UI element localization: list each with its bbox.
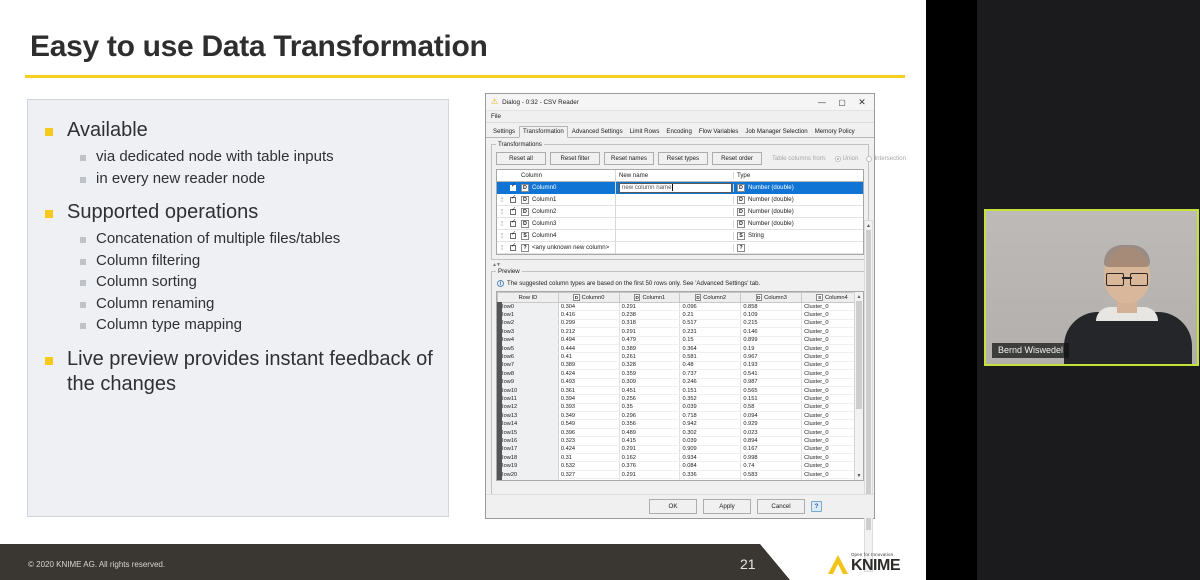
- row-id-cell: Row15: [498, 428, 559, 436]
- table-row[interactable]: Row10.4160.2380.210.109Cluster_0: [498, 311, 863, 319]
- tab-encoding[interactable]: Encoding: [663, 127, 694, 137]
- column-name: Column2: [532, 208, 556, 215]
- knime-logo: Open for Innovation KNIME: [828, 553, 900, 574]
- data-cell: 0.146: [741, 328, 802, 336]
- dialog-tab-strip[interactable]: SettingsTransformationAdvanced SettingsL…: [486, 123, 874, 138]
- table-row[interactable]: Row160.3230.4150.0390.894Cluster_0: [498, 437, 863, 445]
- data-cell: 0.359: [619, 370, 680, 378]
- cell-column: DColumn2: [519, 208, 615, 216]
- data-cell: 0.212: [558, 328, 619, 336]
- data-cell: 0.737: [680, 370, 741, 378]
- include-checkbox[interactable]: [507, 221, 519, 227]
- data-cell: 0.327: [558, 470, 619, 478]
- bullet-secondary: Column sorting: [80, 272, 434, 292]
- cell-type[interactable]: SString: [733, 232, 863, 240]
- bullet-text: Available: [67, 118, 148, 143]
- row-id-cell: Row21: [498, 479, 559, 481]
- dialog-title: Dialog - 0:32 - CSV Reader: [502, 99, 812, 106]
- type-chip-icon: S: [816, 294, 823, 301]
- cell-type[interactable]: DNumber (double): [733, 220, 863, 228]
- preview-col-header-label: Row ID: [519, 295, 538, 301]
- dialog-vertical-scrollbar[interactable]: ▲: [864, 220, 873, 572]
- cell-type[interactable]: DNumber (double): [733, 184, 863, 192]
- cell-new-name[interactable]: new column name: [615, 182, 733, 194]
- data-cell: 0.323: [558, 437, 619, 445]
- data-cell: 0.151: [680, 386, 741, 394]
- bullet-text: Live preview provides instant feedback o…: [67, 347, 434, 397]
- knime-wordmark: Open for Innovation KNIME: [851, 553, 900, 574]
- data-cell: 0.094: [741, 412, 802, 420]
- type-chip-icon: S: [521, 232, 529, 240]
- table-row[interactable]: Row20.2990.3180.5170.215Cluster_0: [498, 319, 863, 327]
- bullet-content-panel: Availablevia dedicated node with table i…: [27, 99, 449, 517]
- data-cell: 0.942: [680, 420, 741, 428]
- data-cell: 0.291: [619, 470, 680, 478]
- apply-button[interactable]: Apply: [703, 499, 751, 514]
- data-cell: 0.389: [558, 361, 619, 369]
- data-cell: 0.304: [558, 303, 619, 311]
- preview-col-header[interactable]: DColumn1: [619, 293, 680, 303]
- table-row[interactable]: ⣿?<any unknown new column>?: [497, 242, 863, 254]
- page-number: 21: [740, 556, 756, 572]
- bullet-spacer: [42, 190, 434, 200]
- type-label: Number (double): [748, 184, 794, 191]
- data-cell: 0.393: [558, 403, 619, 411]
- letterbox-rail: [926, 0, 977, 580]
- data-cell: 0.318: [619, 319, 680, 327]
- include-checkbox[interactable]: [507, 197, 519, 203]
- preview-col-header[interactable]: DColumn3: [741, 293, 802, 303]
- data-cell: 0.934: [680, 454, 741, 462]
- checkbox-icon: [510, 185, 516, 191]
- data-cell: 0.109: [741, 311, 802, 319]
- cell-new-name[interactable]: [615, 194, 733, 206]
- data-cell: 0.489: [619, 428, 680, 436]
- bullet-marker-icon: [80, 155, 86, 161]
- row-id-cell: Row12: [498, 403, 559, 411]
- checkbox-icon: [510, 221, 516, 227]
- transformation-rows: DColumn0new column nameDNumber (double)⣿…: [497, 182, 863, 254]
- data-cell: 0.296: [619, 412, 680, 420]
- text-caret: [672, 184, 673, 191]
- bullet-marker-icon: [45, 210, 53, 218]
- data-cell: 0.415: [619, 437, 680, 445]
- warning-triangle-icon: ⚠: [491, 98, 498, 106]
- data-cell: 0.517: [680, 319, 741, 327]
- new-name-input[interactable]: new column name: [619, 183, 732, 193]
- tab-advanced-settings[interactable]: Advanced Settings: [569, 127, 626, 137]
- type-chip-icon: D: [737, 208, 745, 216]
- header-column: Column: [519, 172, 615, 179]
- data-cell: 0.193: [741, 361, 802, 369]
- bullet-secondary: Column type mapping: [80, 315, 434, 335]
- type-chip-icon: D: [521, 196, 529, 204]
- tab-flow-variables[interactable]: Flow Variables: [696, 127, 742, 137]
- data-cell: 0.424: [558, 445, 619, 453]
- table-row[interactable]: Row80.4240.3590.7370.541Cluster_0: [498, 370, 863, 378]
- bullet-text: Supported operations: [67, 200, 258, 225]
- row-id-cell: Row14: [498, 420, 559, 428]
- data-cell: 0.299: [558, 319, 619, 327]
- preview-col-header[interactable]: Row ID: [498, 293, 559, 303]
- row-id-cell: Row2: [498, 319, 559, 327]
- column-name: Column1: [532, 196, 556, 203]
- table-row[interactable]: Row90.4930.3090.2460.987Cluster_0: [498, 378, 863, 386]
- preview-row-gutter: [497, 302, 502, 480]
- type-chip-icon: D: [737, 196, 745, 204]
- preview-col-header-label: Column4: [825, 295, 848, 301]
- data-cell: 0.532: [558, 462, 619, 470]
- bullet-marker-icon: [45, 357, 53, 365]
- button-reset-types[interactable]: Reset types: [658, 152, 708, 165]
- data-cell: 0.338: [619, 479, 680, 481]
- preview-vertical-scrollbar[interactable]: ▲ ▼: [854, 292, 863, 480]
- data-cell: 0.58: [741, 403, 802, 411]
- minimize-button[interactable]: —: [812, 94, 832, 110]
- data-cell: 0.361: [558, 386, 619, 394]
- cell-new-name[interactable]: [615, 230, 733, 242]
- checkbox-icon: [510, 233, 516, 239]
- data-cell: 0.967: [741, 353, 802, 361]
- bullet-marker-icon: [45, 128, 53, 136]
- button-reset-filter[interactable]: Reset filter: [550, 152, 600, 165]
- table-row[interactable]: Row130.3490.2960.7180.094Cluster_0: [498, 412, 863, 420]
- help-icon[interactable]: ?: [811, 501, 822, 512]
- bullet-text: Column renaming: [96, 294, 214, 314]
- data-cell: 0.541: [741, 370, 802, 378]
- bullet-primary: Available: [42, 118, 434, 143]
- data-cell: 0.909: [680, 445, 741, 453]
- cell-type[interactable]: ?: [733, 244, 863, 252]
- bullet-marker-icon: [80, 237, 86, 243]
- cell-type[interactable]: DNumber (double): [733, 208, 863, 216]
- data-cell: 0.451: [619, 386, 680, 394]
- checkbox-icon: [510, 197, 516, 203]
- radio-dot-icon: [835, 156, 841, 162]
- bullet-primary: Supported operations: [42, 200, 434, 225]
- button-reset-names[interactable]: Reset names: [604, 152, 654, 165]
- avatar-hair: [1104, 245, 1150, 267]
- row-id-cell: Row11: [498, 395, 559, 403]
- data-cell: 0.162: [619, 454, 680, 462]
- cell-column: ?<any unknown new column>: [519, 244, 615, 252]
- bullet-marker-icon: [80, 302, 86, 308]
- data-cell: 0.231: [680, 328, 741, 336]
- bullet-marker-icon: [80, 323, 86, 329]
- column-name: Column4: [532, 232, 556, 239]
- cell-new-name[interactable]: [615, 242, 733, 254]
- type-chip-icon: D: [634, 294, 641, 301]
- cell-column: DColumn3: [519, 220, 615, 228]
- participant-video-tile[interactable]: Bernd Wiswedel: [984, 209, 1199, 366]
- bullet-text: via dedicated node with table inputs: [96, 147, 334, 167]
- cell-column: DColumn0: [519, 184, 615, 192]
- data-cell: 0.084: [680, 462, 741, 470]
- table-row[interactable]: Row120.3930.350.0390.58Cluster_0: [498, 403, 863, 411]
- data-cell: 0.167: [741, 445, 802, 453]
- preview-col-header-label: Column2: [703, 295, 726, 301]
- data-cell: 0.302: [680, 428, 741, 436]
- preview-note-text: The suggested column types are based on …: [507, 280, 760, 287]
- data-cell: 0.238: [619, 311, 680, 319]
- data-cell: 0.899: [741, 336, 802, 344]
- table-row[interactable]: ⣿SColumn4SString: [497, 230, 863, 242]
- preview-info-note: i The suggested column types are based o…: [496, 279, 864, 291]
- dialog-title-bar[interactable]: ⚠ Dialog - 0:32 - CSV Reader — ▢ ✕: [486, 94, 874, 111]
- data-cell: 0.583: [741, 470, 802, 478]
- close-icon[interactable]: ✕: [852, 94, 872, 110]
- preview-legend: Preview: [496, 268, 522, 275]
- column-name: <any unknown new column>: [532, 244, 609, 251]
- type-chip-icon: D: [695, 294, 702, 301]
- transformations-legend: Transformations: [496, 141, 544, 148]
- data-cell: 0.256: [619, 395, 680, 403]
- preview-col-header-label: Column1: [642, 295, 665, 301]
- table-row[interactable]: Row150.3960.4890.3020.023Cluster_0: [498, 428, 863, 436]
- preview-col-header[interactable]: DColumn0: [558, 293, 619, 303]
- cell-new-name[interactable]: [615, 218, 733, 230]
- data-cell: 0.396: [558, 428, 619, 436]
- include-checkbox[interactable]: [507, 233, 519, 239]
- data-cell: 0.039: [680, 437, 741, 445]
- preview-table: Row IDDColumn0DColumn1DColumn2DColumn3SC…: [497, 292, 863, 481]
- data-cell: 0.19: [741, 344, 802, 352]
- tab-transformation[interactable]: Transformation: [519, 126, 568, 138]
- preview-col-header-label: Column3: [764, 295, 787, 301]
- table-row[interactable]: Row190.5320.3760.0840.74Cluster_0: [498, 462, 863, 470]
- type-chip-icon: S: [737, 232, 745, 240]
- data-cell: 0.291: [619, 445, 680, 453]
- logo-name: KNIME: [851, 558, 900, 574]
- data-cell: 0.858: [741, 303, 802, 311]
- row-id-cell: Row6: [498, 353, 559, 361]
- data-cell: 0.21: [680, 311, 741, 319]
- data-cell: 0.31: [558, 454, 619, 462]
- row-id-cell: Row10: [498, 386, 559, 394]
- data-cell: 0.416: [558, 311, 619, 319]
- data-cell: 0.894: [741, 437, 802, 445]
- table-row[interactable]: Row110.3940.2560.3520.151Cluster_0: [498, 395, 863, 403]
- row-id-cell: Row17: [498, 445, 559, 453]
- cell-column: SColumn4: [519, 232, 615, 240]
- scroll-up-icon[interactable]: ▲: [855, 292, 863, 301]
- checkbox-icon: [510, 209, 516, 215]
- column-name: Column0: [532, 184, 556, 191]
- table-row[interactable]: ⣿DColumn3DNumber (double): [497, 218, 863, 230]
- type-chip-icon: D: [521, 208, 529, 216]
- outer-scroll-up-icon[interactable]: ▲: [865, 221, 872, 230]
- bullet-text: Column sorting: [96, 272, 197, 292]
- table-row[interactable]: Row100.3610.4510.1510.565Cluster_0: [498, 386, 863, 394]
- data-cell: 0.261: [619, 353, 680, 361]
- header-new-name: New name: [615, 170, 733, 182]
- data-cell: 0.48: [680, 361, 741, 369]
- row-id-cell: Row5: [498, 344, 559, 352]
- transformation-table[interactable]: Column New name Type DColumn0new column …: [496, 169, 864, 255]
- data-cell: 0.549: [558, 420, 619, 428]
- preview-table-header-row: Row IDDColumn0DColumn1DColumn2DColumn3SC…: [498, 293, 863, 303]
- splitter-handle[interactable]: ▲▼: [492, 262, 868, 268]
- data-cell: 0.328: [619, 361, 680, 369]
- include-checkbox[interactable]: [507, 245, 519, 251]
- table-row[interactable]: Row210.3530.3380.5850.626Cluster_0: [498, 479, 863, 481]
- data-cell: 0.096: [680, 303, 741, 311]
- type-chip-icon: D: [573, 294, 580, 301]
- data-cell: 0.581: [680, 353, 741, 361]
- row-id-cell: Row1: [498, 311, 559, 319]
- row-id-cell: Row19: [498, 462, 559, 470]
- table-columns-from-label: Table columns from:: [772, 155, 827, 162]
- data-cell: 0.585: [680, 479, 741, 481]
- bullet-list: Availablevia dedicated node with table i…: [28, 100, 448, 397]
- data-cell: 0.15: [680, 336, 741, 344]
- include-checkbox[interactable]: [507, 209, 519, 215]
- table-row[interactable]: Row140.5490.3560.9420.929Cluster_0: [498, 420, 863, 428]
- data-cell: 0.626: [741, 479, 802, 481]
- data-cell: 0.349: [558, 412, 619, 420]
- bullet-marker-icon: [80, 280, 86, 286]
- screen: Easy to use Data Transformation Availabl…: [0, 0, 1200, 580]
- radio-union[interactable]: Union: [835, 155, 859, 162]
- table-row[interactable]: Row60.410.2610.5810.967Cluster_0: [498, 353, 863, 361]
- data-cell: 0.444: [558, 344, 619, 352]
- row-id-cell: Row8: [498, 370, 559, 378]
- cell-type[interactable]: DNumber (double): [733, 196, 863, 204]
- type-label: Number (double): [748, 208, 794, 215]
- data-cell: 0.987: [741, 378, 802, 386]
- table-row[interactable]: Row30.2120.2910.2310.146Cluster_0: [498, 328, 863, 336]
- radio-dot-icon: [866, 156, 872, 162]
- bullet-primary: Live preview provides instant feedback o…: [42, 347, 434, 397]
- table-row[interactable]: Row00.3040.2910.0960.858Cluster_0: [498, 303, 863, 311]
- type-label: Number (double): [748, 196, 794, 203]
- reset-buttons-row: Reset allReset filterReset namesReset ty…: [496, 152, 864, 165]
- row-id-cell: Row20: [498, 470, 559, 478]
- cancel-button[interactable]: Cancel: [757, 499, 805, 514]
- data-cell: 0.215: [741, 319, 802, 327]
- preview-table-wrapper[interactable]: Row IDDColumn0DColumn1DColumn2DColumn3SC…: [496, 291, 864, 481]
- table-row[interactable]: Row180.310.1620.9340.998Cluster_0: [498, 454, 863, 462]
- table-row[interactable]: Row40.4940.4790.150.899Cluster_0: [498, 336, 863, 344]
- glasses-bridge: [1122, 277, 1132, 279]
- row-id-cell: Row16: [498, 437, 559, 445]
- data-cell: 0.998: [741, 454, 802, 462]
- maximize-button[interactable]: ▢: [832, 94, 852, 110]
- type-chip-icon: D: [737, 184, 745, 192]
- copyright-text: © 2020 KNIME AG. All rights reserved.: [28, 560, 165, 569]
- data-cell: 0.246: [680, 378, 741, 386]
- data-cell: 0.336: [680, 470, 741, 478]
- row-id-cell: Row18: [498, 454, 559, 462]
- table-row[interactable]: Row50.4440.3890.3640.19Cluster_0: [498, 344, 863, 352]
- table-row[interactable]: ⣿DColumn1DNumber (double): [497, 194, 863, 206]
- bullet-secondary: in every new reader node: [80, 169, 434, 189]
- data-cell: 0.41: [558, 353, 619, 361]
- menu-item-file[interactable]: File: [491, 113, 501, 120]
- radio-intersection[interactable]: Intersection: [866, 155, 906, 162]
- bullet-text: in every new reader node: [96, 169, 265, 189]
- tab-job-manager-selection[interactable]: Job Manager Selection: [742, 127, 810, 137]
- data-cell: 0.291: [619, 303, 680, 311]
- scrollbar-thumb[interactable]: [856, 301, 862, 409]
- bullet-marker-icon: [80, 177, 86, 183]
- table-row[interactable]: DColumn0new column nameDNumber (double): [497, 182, 863, 194]
- bullet-secondary: Concatenation of multiple files/tables: [80, 229, 434, 249]
- table-row[interactable]: Row170.4240.2910.9090.167Cluster_0: [498, 445, 863, 453]
- button-reset-all[interactable]: Reset all: [496, 152, 546, 165]
- header-type: Type: [733, 172, 863, 179]
- data-cell: 0.394: [558, 395, 619, 403]
- data-cell: 0.479: [619, 336, 680, 344]
- tab-limit-rows[interactable]: Limit Rows: [627, 127, 663, 137]
- preview-col-header[interactable]: DColumn2: [680, 293, 741, 303]
- drag-handle-icon[interactable]: ⣿: [497, 221, 507, 227]
- data-cell: 0.35: [619, 403, 680, 411]
- tab-memory-policy[interactable]: Memory Policy: [812, 127, 858, 137]
- dialog-menu-bar[interactable]: File: [486, 111, 874, 123]
- drag-handle-icon[interactable]: ⣿: [497, 197, 507, 203]
- data-cell: 0.718: [680, 412, 741, 420]
- radio-label: Union: [843, 155, 859, 162]
- table-row[interactable]: ⣿DColumn2DNumber (double): [497, 206, 863, 218]
- button-reset-order[interactable]: Reset order: [712, 152, 762, 165]
- csv-reader-dialog-window: ⚠ Dialog - 0:32 - CSV Reader — ▢ ✕ File …: [485, 93, 875, 519]
- bullet-text: Concatenation of multiple files/tables: [96, 229, 340, 249]
- data-cell: 0.364: [680, 344, 741, 352]
- drag-handle-icon[interactable]: ⣿: [497, 233, 507, 239]
- data-cell: 0.023: [741, 428, 802, 436]
- data-cell: 0.494: [558, 336, 619, 344]
- table-row[interactable]: Row70.3890.3280.480.193Cluster_0: [498, 361, 863, 369]
- row-id-cell: Row9: [498, 378, 559, 386]
- radio-label: Intersection: [874, 155, 906, 162]
- scroll-down-icon[interactable]: ▼: [855, 471, 863, 480]
- outer-scrollbar-thumb[interactable]: [866, 230, 871, 530]
- preview-group: Preview i The suggested column types are…: [491, 271, 869, 496]
- ok-button[interactable]: OK: [649, 499, 697, 514]
- slide-footer: © 2020 KNIME AG. All rights reserved. 21…: [0, 544, 926, 580]
- row-id-cell: Row4: [498, 336, 559, 344]
- presentation-slide: Easy to use Data Transformation Availabl…: [0, 0, 926, 580]
- data-cell: 0.309: [619, 378, 680, 386]
- drag-handle-icon[interactable]: ⣿: [497, 209, 507, 215]
- data-cell: 0.353: [558, 479, 619, 481]
- include-checkbox[interactable]: [507, 185, 519, 191]
- type-label: String: [748, 232, 764, 239]
- type-chip-icon: D: [521, 184, 529, 192]
- title-underline-rule: [25, 75, 905, 78]
- knime-triangle-icon: [828, 555, 848, 574]
- new-name-input-value: new column name: [622, 184, 671, 191]
- data-cell: 0.352: [680, 395, 741, 403]
- cell-column: DColumn1: [519, 196, 615, 204]
- cell-new-name[interactable]: [615, 206, 733, 218]
- bullet-marker-icon: [80, 259, 86, 265]
- type-chip-icon: ?: [737, 244, 745, 252]
- preview-table-body: Row00.3040.2910.0960.858Cluster_0Row10.4…: [498, 303, 863, 482]
- type-chip-icon: ?: [521, 244, 529, 252]
- type-label: Number (double): [748, 220, 794, 227]
- data-cell: 0.74: [741, 462, 802, 470]
- bullet-text: Column filtering: [96, 251, 200, 271]
- data-cell: 0.356: [619, 420, 680, 428]
- data-cell: 0.376: [619, 462, 680, 470]
- row-id-cell: Row3: [498, 328, 559, 336]
- table-row[interactable]: Row200.3270.2910.3360.583Cluster_0: [498, 470, 863, 478]
- drag-handle-icon[interactable]: ⣿: [497, 245, 507, 251]
- transformation-table-header: Column New name Type: [497, 170, 863, 182]
- tab-settings[interactable]: Settings: [490, 127, 518, 137]
